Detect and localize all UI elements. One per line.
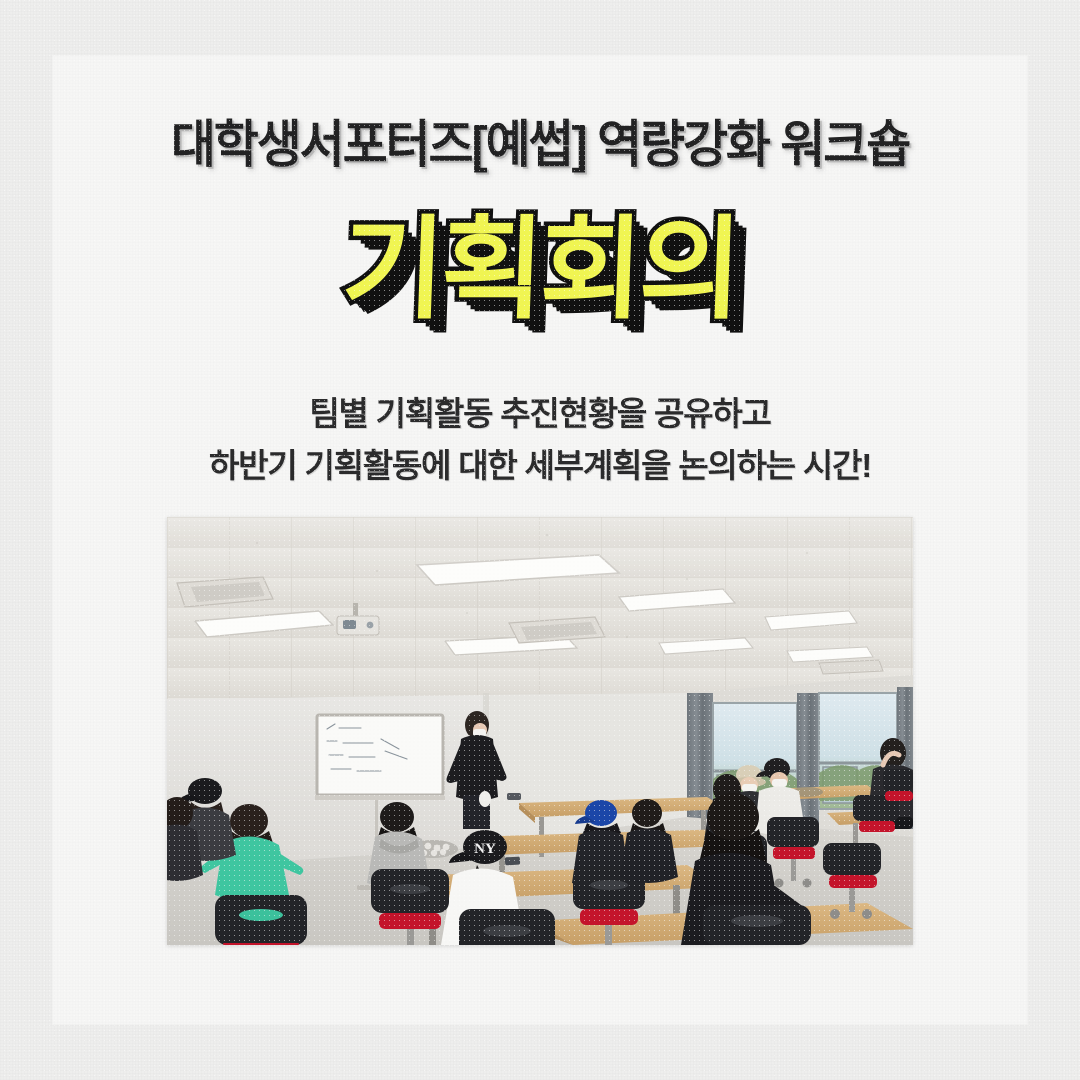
subtitle-line-2: 하반기 기획활동에 대한 세부계획을 논의하는 시간! [0,440,1080,492]
subtitle-line-1: 팀별 기획활동 추진현황을 공유하고 [0,388,1080,440]
subtitle: 팀별 기획활동 추진현황을 공유하고 하반기 기획활동에 대한 세부계획을 논의… [0,388,1080,492]
event-photo: NY [167,517,913,945]
classroom-photo-illustration: NY [167,517,913,945]
program-title: 대학생서포터즈[예썹] 역량강화 워크숍 [22,118,1059,172]
hero-title: 기획회의 [340,214,740,326]
hero-title-container: 기획회의 [0,214,1080,364]
poster-canvas: 대학생서포터즈[예썹] 역량강화 워크숍 기획회의 팀별 기획활동 추진현황을 … [0,0,1080,1080]
